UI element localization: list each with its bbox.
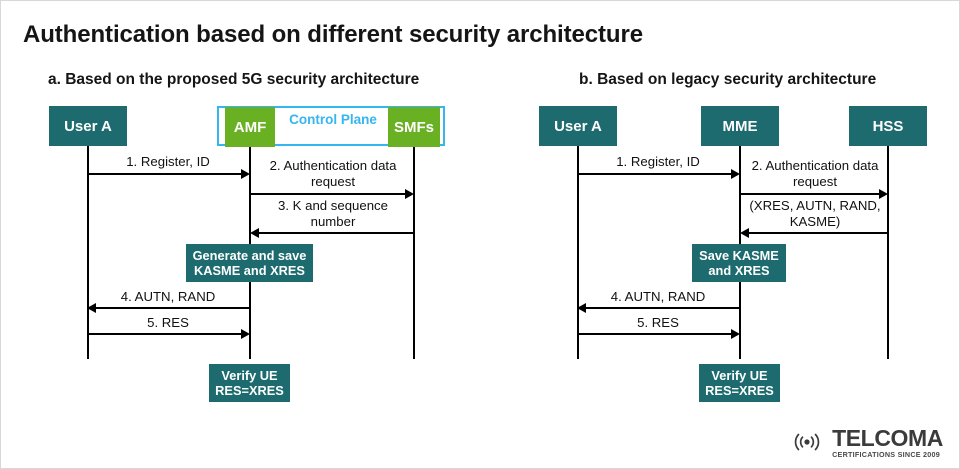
message-line-b5 — [578, 333, 731, 335]
message-label-a1: 1. Register, ID — [88, 154, 248, 170]
message-label-a3-line1: 3. K and sequence — [278, 198, 388, 213]
logo-wordmark: TELCOMA — [832, 427, 943, 450]
message-label-a4: 4. AUTN, RAND — [88, 289, 248, 305]
logo-text: TELCOMA CERTIFICATIONS SINCE 2009 — [832, 427, 943, 458]
panel-a-title: a. Based on the proposed 5G security arc… — [48, 71, 419, 89]
note-box-b1: Save KASME and XRES — [692, 244, 786, 282]
actor-box-hss[interactable]: HSS — [849, 106, 927, 146]
actor-box-mme[interactable]: MME — [701, 106, 779, 146]
note-a2-line2: RES=XRES — [215, 383, 284, 398]
message-label-a2-line2: request — [311, 174, 355, 189]
panel-b-title: b. Based on legacy security architecture — [579, 71, 876, 89]
control-plane-label: Control Plane — [283, 112, 383, 127]
message-line-a4 — [94, 307, 250, 309]
logo-tagline: CERTIFICATIONS SINCE 2009 — [832, 451, 940, 458]
message-line-a2 — [250, 193, 405, 195]
actor-label-hss: HSS — [873, 118, 904, 135]
actor-box-user-a-left[interactable]: User A — [49, 106, 127, 146]
arrowhead-a1-icon — [241, 169, 250, 179]
message-label-b3-line2: KASME) — [790, 214, 841, 229]
message-label-b2-line1: 2. Authentication data — [752, 158, 879, 173]
page-title: Authentication based on different securi… — [23, 21, 643, 49]
message-label-b4: 4. AUTN, RAND — [578, 289, 738, 305]
actor-box-smfs[interactable]: SMFs — [388, 107, 440, 147]
message-label-b2-line2: request — [793, 174, 837, 189]
note-b1-line1: Save KASME — [699, 248, 779, 263]
note-a1-line2: KASME and XRES — [194, 263, 305, 278]
arrowhead-b1-icon — [731, 169, 740, 179]
message-line-a1 — [88, 173, 241, 175]
signal-dot-icon — [804, 440, 809, 445]
message-line-b3 — [747, 232, 887, 234]
note-box-b2: Verify UE RES=XRES — [699, 364, 780, 402]
actor-label-mme: MME — [723, 118, 758, 135]
message-label-b3: (XRES, AUTN, RAND, KASME) — [740, 198, 890, 230]
message-line-b1 — [578, 173, 731, 175]
message-line-b2 — [740, 193, 879, 195]
signal-waves-icon — [786, 429, 828, 455]
message-label-a5: 5. RES — [88, 315, 248, 331]
note-b2-line2: RES=XRES — [705, 383, 774, 398]
message-label-a2: 2. Authentication data request — [250, 158, 416, 190]
actor-box-amf[interactable]: AMF — [225, 107, 275, 147]
actor-box-user-a-right[interactable]: User A — [539, 106, 617, 146]
message-label-b5: 5. RES — [578, 315, 738, 331]
note-a1-line1: Generate and save — [193, 248, 307, 263]
message-line-a5 — [88, 333, 241, 335]
brand-logo: TELCOMA CERTIFICATIONS SINCE 2009 — [786, 427, 943, 458]
message-line-a3 — [257, 232, 413, 234]
message-label-a3-line2: number — [311, 214, 356, 229]
message-label-b2: 2. Authentication data request — [740, 158, 890, 190]
message-line-b4 — [584, 307, 740, 309]
note-b1-line2: and XRES — [708, 263, 769, 278]
message-label-a2-line1: 2. Authentication data — [270, 158, 397, 173]
actor-label-user-a-right: User A — [554, 118, 602, 135]
diagram-canvas: Authentication based on different securi… — [0, 0, 960, 469]
message-label-b1: 1. Register, ID — [578, 154, 738, 170]
message-label-b3-line1: (XRES, AUTN, RAND, — [749, 198, 880, 213]
note-box-a1: Generate and save KASME and XRES — [186, 244, 313, 282]
note-box-a2: Verify UE RES=XRES — [209, 364, 290, 402]
note-a2-line1: Verify UE — [221, 368, 277, 383]
note-b2-line1: Verify UE — [711, 368, 767, 383]
message-label-a3: 3. K and sequence number — [250, 198, 416, 230]
